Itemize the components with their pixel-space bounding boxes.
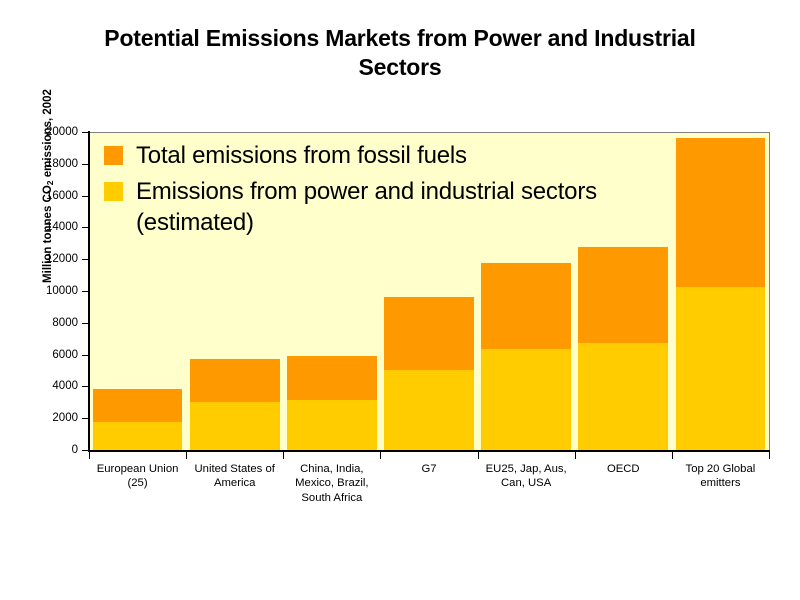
x-axis-tick — [283, 451, 284, 459]
x-axis-label-2: United States ofAmerica — [186, 462, 283, 491]
bar-segment-total-emissions — [384, 297, 474, 370]
y-axis-tick-label: 12000 — [12, 253, 78, 265]
legend-label: Total emissions from fossil fuels — [136, 140, 467, 172]
x-axis-label-line: South Africa — [283, 491, 380, 505]
legend-label: Emissions from power and industrial sect… — [136, 176, 664, 239]
x-axis-label-7: Top 20 Globalemitters — [672, 462, 769, 491]
chart-legend: Total emissions from fossil fuelsEmissio… — [104, 140, 664, 243]
bar-segment-power-industrial — [481, 349, 571, 451]
y-axis-tick — [82, 196, 89, 197]
x-axis-label-line: G7 — [380, 462, 477, 476]
bar-5 — [481, 263, 571, 451]
bar-segment-power-industrial — [384, 370, 474, 451]
bar-segment-power-industrial — [93, 422, 183, 451]
x-axis-tick — [769, 451, 770, 459]
bar-segment-power-industrial — [287, 400, 377, 451]
x-axis-label-3: China, India,Mexico, Brazil,South Africa — [283, 462, 380, 505]
x-axis-label-line: emitters — [672, 476, 769, 490]
bar-1 — [93, 389, 183, 451]
bar-7 — [676, 138, 766, 451]
y-axis-tick-labels: 0200040006000800010000120001400016000180… — [6, 0, 78, 600]
x-axis-label-6: OECD — [575, 462, 672, 476]
y-axis-tick-label: 10000 — [12, 285, 78, 297]
y-axis-tick — [82, 291, 89, 292]
x-axis-label-1: European Union(25) — [89, 462, 186, 491]
y-axis-tick-label: 4000 — [12, 380, 78, 392]
y-axis-tick — [82, 418, 89, 419]
bar-segment-total-emissions — [481, 263, 571, 349]
legend-swatch-icon — [104, 182, 123, 201]
x-axis-label-line: OECD — [575, 462, 672, 476]
y-axis-tick-label: 16000 — [12, 190, 78, 202]
bar-segment-total-emissions — [190, 359, 280, 402]
y-axis-tick — [82, 450, 89, 451]
y-axis-tick — [82, 323, 89, 324]
legend-item-2: Emissions from power and industrial sect… — [104, 176, 664, 239]
y-axis-tick-label: 0 — [12, 444, 78, 456]
x-axis-tick — [478, 451, 479, 459]
x-axis-label-line: Top 20 Global — [672, 462, 769, 476]
x-axis-tick — [89, 451, 90, 459]
legend-swatch-icon — [104, 146, 123, 165]
x-axis-tick — [186, 451, 187, 459]
x-axis-label-line: EU25, Jap, Aus, — [478, 462, 575, 476]
x-axis-line — [88, 450, 770, 452]
x-axis-label-4: G7 — [380, 462, 477, 476]
y-axis-tick — [82, 386, 89, 387]
bar-segment-power-industrial — [676, 287, 766, 451]
y-axis-tick — [82, 259, 89, 260]
x-axis-label-line: America — [186, 476, 283, 490]
bar-segment-total-emissions — [93, 389, 183, 422]
bar-6 — [578, 247, 668, 451]
y-axis-tick-label: 8000 — [12, 317, 78, 329]
y-axis-tick-label: 18000 — [12, 158, 78, 170]
y-axis-tick — [82, 164, 89, 165]
bar-4 — [384, 297, 474, 451]
x-axis-tick — [575, 451, 576, 459]
y-axis-tick-label: 20000 — [12, 126, 78, 138]
bar-segment-total-emissions — [676, 138, 766, 287]
x-axis-tick — [380, 451, 381, 459]
legend-item-1: Total emissions from fossil fuels — [104, 140, 664, 172]
y-axis-tick — [82, 227, 89, 228]
x-axis-label-line: China, India, — [283, 462, 380, 476]
x-axis-label-line: European Union — [89, 462, 186, 476]
y-axis-tick — [82, 355, 89, 356]
y-axis-tick-label: 14000 — [12, 221, 78, 233]
bar-segment-power-industrial — [190, 402, 280, 451]
y-axis-tick-label: 6000 — [12, 349, 78, 361]
x-axis-label-5: EU25, Jap, Aus,Can, USA — [478, 462, 575, 491]
y-axis-tick — [82, 132, 89, 133]
x-axis-label-line: (25) — [89, 476, 186, 490]
x-axis-tick — [672, 451, 673, 459]
bar-segment-total-emissions — [287, 356, 377, 401]
bar-2 — [190, 359, 280, 451]
x-axis-label-line: United States of — [186, 462, 283, 476]
bar-3 — [287, 356, 377, 451]
y-axis-tick-label: 2000 — [12, 412, 78, 424]
x-axis-label-line: Mexico, Brazil, — [283, 476, 380, 490]
x-axis-label-line: Can, USA — [478, 476, 575, 490]
chart-title: Potential Emissions Markets from Power a… — [60, 24, 740, 83]
bar-segment-total-emissions — [578, 247, 668, 342]
bar-segment-power-industrial — [578, 343, 668, 451]
